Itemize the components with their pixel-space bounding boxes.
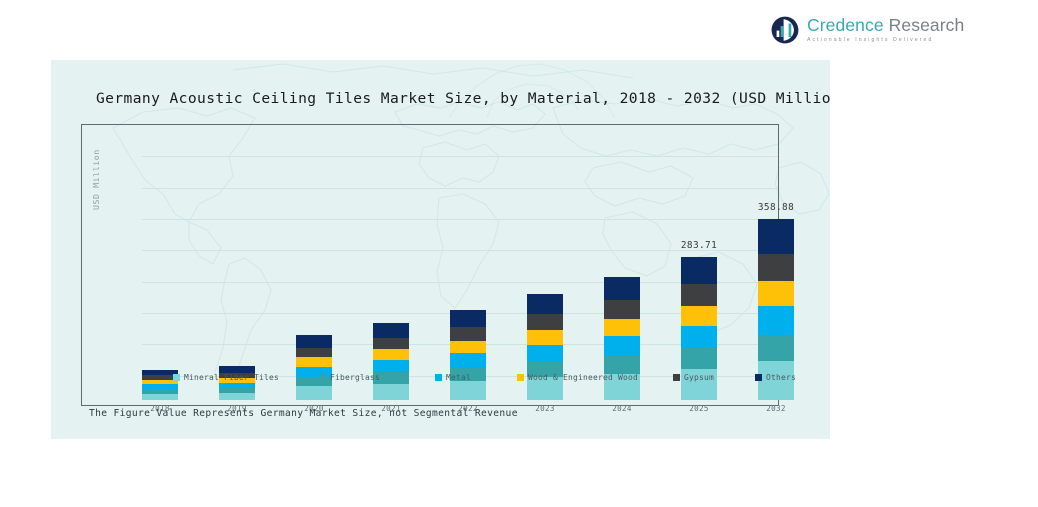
bar-segment[interactable]: [681, 348, 717, 369]
logo-title-credence: Credence: [807, 15, 884, 35]
legend-label: Metal: [446, 373, 471, 382]
legend-label: Gypsum: [684, 373, 714, 382]
bar-segment[interactable]: [758, 335, 794, 362]
bar-segment[interactable]: [758, 219, 794, 253]
legend-item[interactable]: Others: [755, 373, 796, 382]
bar-segment[interactable]: [296, 386, 332, 400]
bar-value-label: 358.88: [758, 202, 794, 213]
legend-swatch: [755, 374, 762, 381]
bar-segment[interactable]: [758, 281, 794, 306]
bar-segment[interactable]: [604, 356, 640, 374]
x-axis-tick: 2025: [669, 404, 729, 413]
chart-footnote: The Figure Value Represents Germany Mark…: [89, 408, 518, 419]
bar-segment[interactable]: [527, 330, 563, 345]
bar-segment[interactable]: [604, 300, 640, 319]
bar-segment[interactable]: [450, 310, 486, 327]
bar-chart-circle-icon: [770, 15, 800, 45]
bar-segment[interactable]: [373, 338, 409, 350]
bar-group[interactable]: [296, 335, 332, 400]
legend-label: Mineral Fiber Tiles: [184, 373, 279, 382]
legend-item[interactable]: Fiberglass: [319, 373, 380, 382]
chart-legend: Mineral Fiber TilesFiberglassMetalWood &…: [173, 373, 773, 387]
bar-segment[interactable]: [296, 357, 332, 366]
bar-segment[interactable]: [527, 294, 563, 314]
bar-segment[interactable]: [142, 394, 178, 400]
bar-segment[interactable]: [373, 349, 409, 360]
bar-series-container: 283.71358.88: [132, 184, 811, 400]
gridline: [142, 156, 778, 157]
legend-item[interactable]: Wood & Engineered Wood: [517, 373, 638, 382]
logo-tagline: Actionable Insights Delivered: [807, 38, 964, 43]
legend-item[interactable]: Gypsum: [673, 373, 714, 382]
bar-group[interactable]: [373, 323, 409, 400]
bar-segment[interactable]: [681, 326, 717, 348]
x-axis-tick: 2023: [515, 404, 575, 413]
bar-segment[interactable]: [527, 345, 563, 362]
bar-segment[interactable]: [450, 353, 486, 367]
bar-segment[interactable]: [604, 277, 640, 300]
bar-segment[interactable]: [681, 306, 717, 326]
bar-segment[interactable]: [219, 393, 255, 400]
legend-item[interactable]: Mineral Fiber Tiles: [173, 373, 279, 382]
bar-segment[interactable]: [296, 348, 332, 358]
bar-segment[interactable]: [604, 319, 640, 336]
bar-segment[interactable]: [681, 257, 717, 284]
credence-research-logo: Credence Research Actionable Insights De…: [770, 12, 940, 48]
bar-segment[interactable]: [604, 336, 640, 355]
bar-segment[interactable]: [373, 360, 409, 372]
legend-label: Wood & Engineered Wood: [528, 373, 638, 382]
legend-label: Others: [766, 373, 796, 382]
bar-segment[interactable]: [758, 254, 794, 282]
bar-value-label: 283.71: [681, 240, 717, 251]
bar-segment[interactable]: [758, 306, 794, 334]
bar-segment[interactable]: [450, 327, 486, 341]
legend-swatch: [517, 374, 524, 381]
bar-segment[interactable]: [450, 341, 486, 354]
x-axis-tick: 2024: [592, 404, 652, 413]
legend-swatch: [435, 374, 442, 381]
x-axis-tick: 2032: [746, 404, 806, 413]
chart-panel: Germany Acoustic Ceiling Tiles Market Si…: [51, 60, 830, 439]
legend-item[interactable]: Metal: [435, 373, 471, 382]
bar-segment[interactable]: [527, 314, 563, 330]
y-axis-label: USD Million: [91, 149, 101, 210]
legend-swatch: [319, 374, 326, 381]
bar-segment[interactable]: [296, 335, 332, 347]
legend-label: Fiberglass: [330, 373, 380, 382]
logo-title: Credence Research: [807, 17, 964, 35]
chart-title: Germany Acoustic Ceiling Tiles Market Si…: [96, 90, 830, 107]
logo-title-research: Research: [889, 15, 965, 35]
legend-swatch: [173, 374, 180, 381]
legend-swatch: [673, 374, 680, 381]
bar-segment[interactable]: [681, 284, 717, 306]
bar-segment[interactable]: [373, 323, 409, 338]
